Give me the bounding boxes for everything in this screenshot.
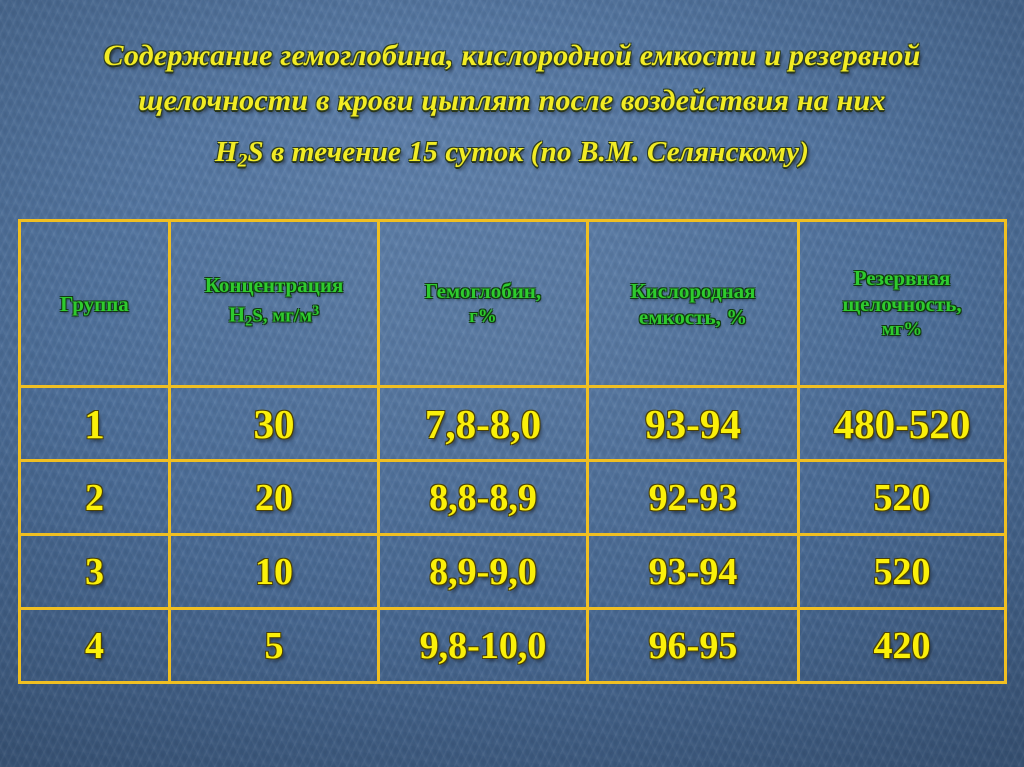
cell-hemoglobin: 8,8-8,9 — [379, 461, 588, 535]
cell-group: 3 — [20, 535, 170, 609]
title-formula-h: H — [215, 136, 238, 168]
slide-title: Содержание гемоглобина, кислородной емко… — [0, 34, 1024, 189]
cell-group: 1 — [20, 387, 170, 461]
cell-alkalinity: 480-520 — [799, 387, 1006, 461]
header-reserve-alkalinity: Резервная щелочность, мг% — [799, 221, 1006, 387]
header-hemoglobin: Гемоглобин, г% — [379, 221, 588, 387]
table-body: 1 30 7,8-8,0 93-94 480-520 2 20 8,8-8,9 … — [20, 387, 1006, 683]
header-concentration-formula: H2S, мг/м3 — [175, 298, 373, 335]
header-group: Группа — [20, 221, 170, 387]
header-hemoglobin-line1: Гемоглобин, — [384, 278, 582, 304]
cell-concentration: 30 — [170, 387, 379, 461]
results-table: Группа Концентрация H2S, мг/м3 Гемоглоби… — [18, 219, 1007, 684]
title-line-2: щелочности в крови цыплят после воздейст… — [0, 78, 1024, 124]
title-formula-subscript: 2 — [238, 150, 248, 171]
header-formula-h: H — [229, 303, 245, 327]
cell-concentration: 5 — [170, 609, 379, 683]
header-formula-superscript: 3 — [312, 303, 319, 319]
cell-concentration: 20 — [170, 461, 379, 535]
header-alkalinity-line1: Резервная — [804, 265, 1000, 291]
table-row: 1 30 7,8-8,0 93-94 480-520 — [20, 387, 1006, 461]
cell-oxygen: 93-94 — [588, 387, 799, 461]
slide-canvas: Содержание гемоглобина, кислородной емко… — [0, 0, 1024, 767]
header-hemoglobin-line2: г% — [384, 304, 582, 330]
title-line-3: H2S в течение 15 суток (по В.М. Селянско… — [0, 124, 1024, 189]
cell-hemoglobin: 7,8-8,0 — [379, 387, 588, 461]
table-row: 4 5 9,8-10,0 96-95 420 — [20, 609, 1006, 683]
cell-concentration: 10 — [170, 535, 379, 609]
header-oxygen-line2: емкость, % — [593, 304, 793, 330]
header-oxygen-capacity: Кислородная емкость, % — [588, 221, 799, 387]
header-concentration-line1: Концентрация — [175, 272, 373, 298]
table-row: 3 10 8,9-9,0 93-94 520 — [20, 535, 1006, 609]
cell-oxygen: 92-93 — [588, 461, 799, 535]
cell-hemoglobin: 9,8-10,0 — [379, 609, 588, 683]
cell-alkalinity: 520 — [799, 535, 1006, 609]
cell-alkalinity: 520 — [799, 461, 1006, 535]
title-line-1: Содержание гемоглобина, кислородной емко… — [0, 34, 1024, 78]
header-formula-units: S, мг/м — [252, 306, 312, 327]
cell-alkalinity: 420 — [799, 609, 1006, 683]
title-line-3-rest: S в течение 15 суток (по В.М. Селянскому… — [247, 136, 809, 168]
cell-hemoglobin: 8,9-9,0 — [379, 535, 588, 609]
header-alkalinity-line3: мг% — [804, 317, 1000, 343]
cell-group: 2 — [20, 461, 170, 535]
header-concentration: Концентрация H2S, мг/м3 — [170, 221, 379, 387]
table-header: Группа Концентрация H2S, мг/м3 Гемоглоби… — [20, 221, 1006, 387]
header-oxygen-line1: Кислородная — [593, 278, 793, 304]
cell-group: 4 — [20, 609, 170, 683]
table-header-row: Группа Концентрация H2S, мг/м3 Гемоглоби… — [20, 221, 1006, 387]
cell-oxygen: 93-94 — [588, 535, 799, 609]
table-row: 2 20 8,8-8,9 92-93 520 — [20, 461, 1006, 535]
cell-oxygen: 96-95 — [588, 609, 799, 683]
header-alkalinity-line2: щелочность, — [804, 291, 1000, 317]
